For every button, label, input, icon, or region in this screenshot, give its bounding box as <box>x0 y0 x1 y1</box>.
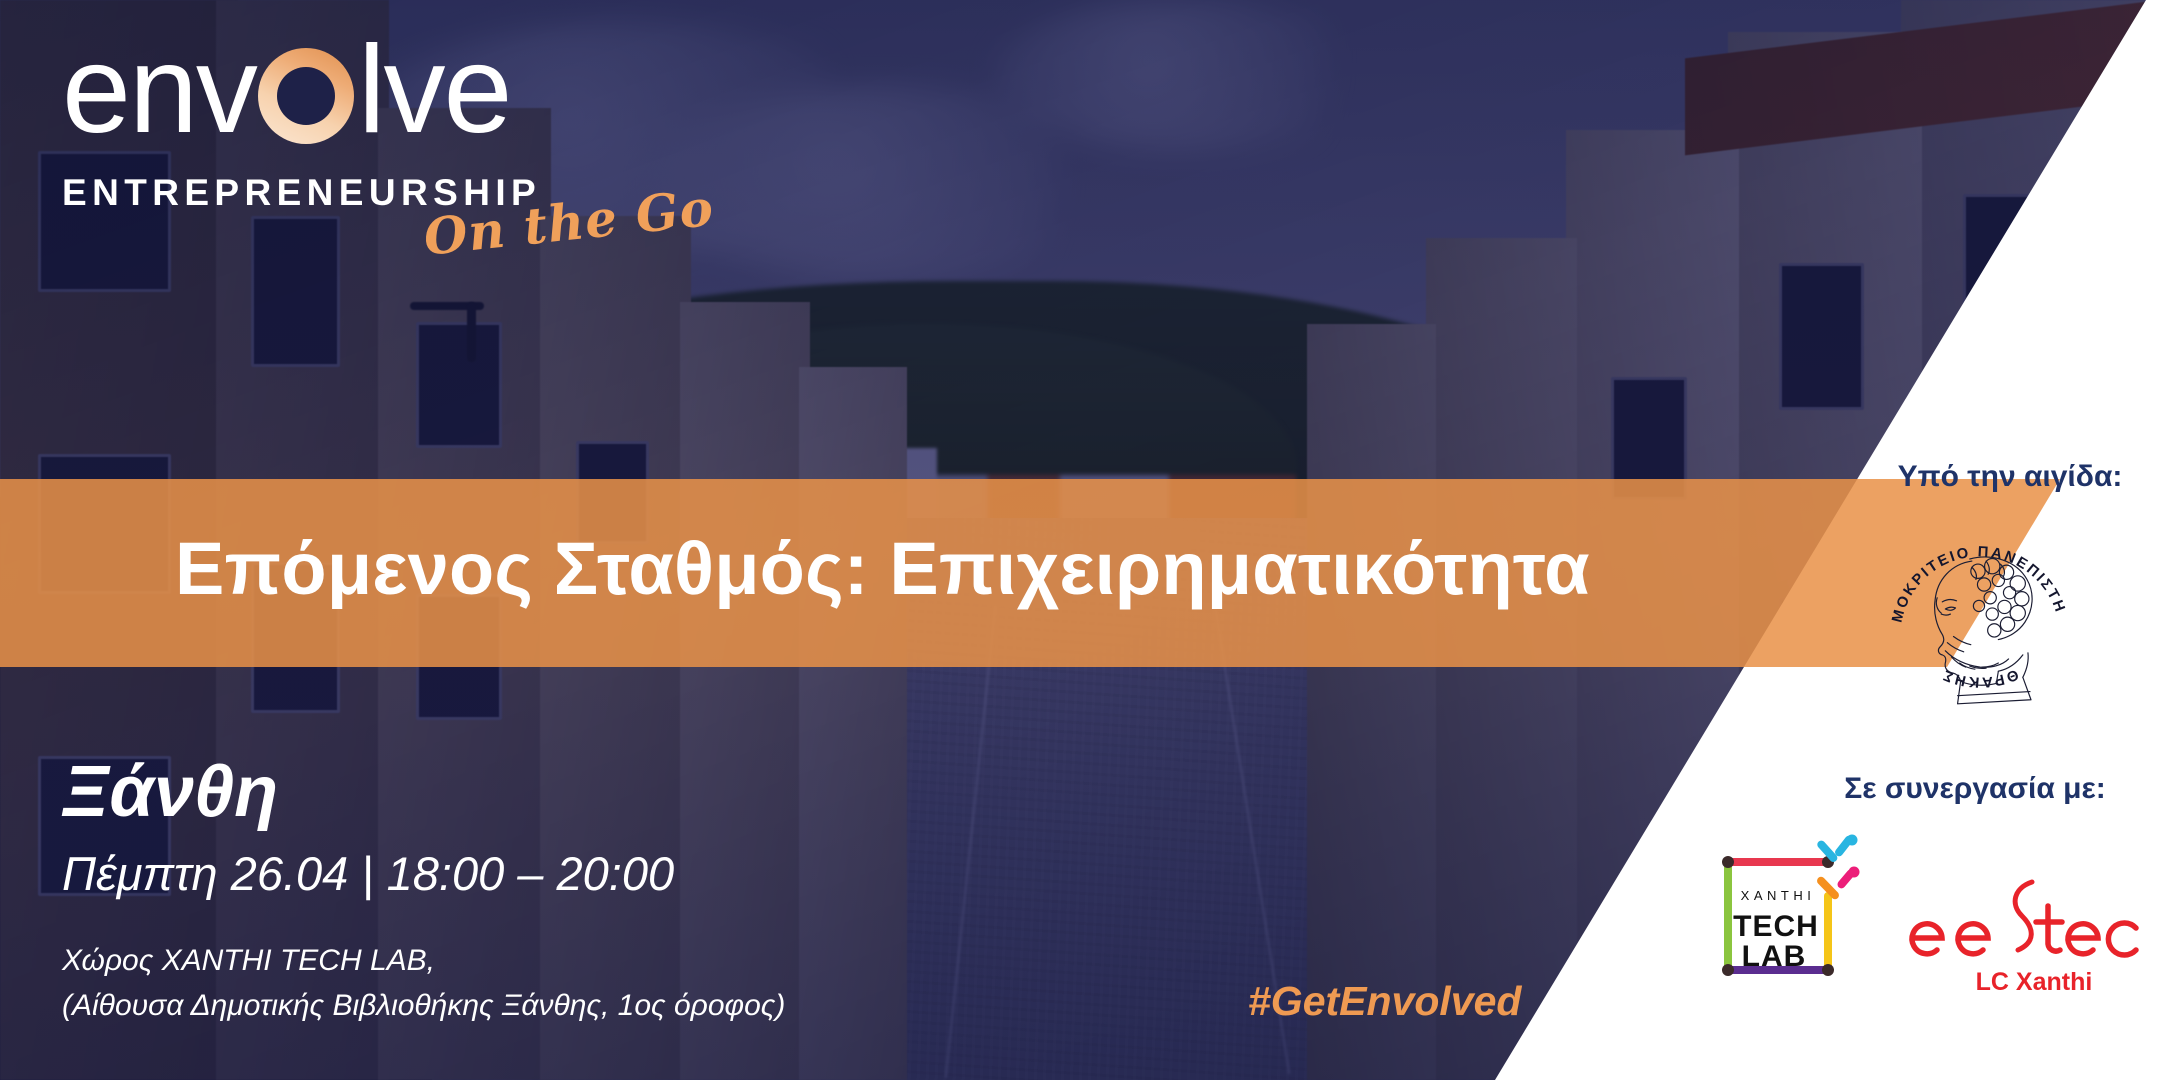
event-datetime: Πέμπτη 26.04 | 18:00 – 20:00 <box>62 850 674 897</box>
event-venue: Χώρος XANTHI TECH LAB, (Αίθουσα Δημοτική… <box>62 938 785 1028</box>
svg-text:ΘΡΑΚΗΣ: ΘΡΑΚΗΣ <box>1939 666 2020 690</box>
logo-text-post: lve <box>358 28 511 152</box>
venue-line-1: Χώρος XANTHI TECH LAB, <box>62 938 785 983</box>
poster-canvas: Επόμενος Σταθμός: Επιχειρηματικότητα env… <box>0 0 2160 1080</box>
eestec-chapter-label: LC Xanthi <box>1976 968 2093 996</box>
logo-text-pre: env <box>62 28 256 152</box>
page-title: Επόμενος Σταθμός: Επιχειρηματικότητα <box>175 526 1935 611</box>
envolve-wordmark: env lve <box>62 28 541 152</box>
svg-text:TECH: TECH <box>1733 910 1819 943</box>
venue-line-2: (Αίθουσα Δημοτικής Βιβλιοθήκης Ξάνθης, 1… <box>62 983 785 1028</box>
envolve-logo: env lve ENTREPRENEURSHIP <box>62 28 541 214</box>
svg-text:LAB: LAB <box>1742 940 1807 973</box>
eestec-lc-xanthi-logo: LC Xanthi <box>1898 866 2142 1002</box>
event-city: Ξάνθη <box>62 756 278 828</box>
svg-text:XANTHI: XANTHI <box>1741 888 1816 903</box>
logo-o-ring-icon <box>258 48 354 144</box>
aegis-label: Υπό την αιγίδα: <box>1880 460 2140 494</box>
xanthi-tech-lab-logo: XANTHI TECH LAB <box>1708 828 1888 1004</box>
partner-label: Σε συνεργασία με: <box>1810 772 2140 806</box>
democritus-university-seal: ΔΗΜΟΚΡΙΤΕΙΟ ΠΑΝΕΠΙΣΤΗΜΙΟ ΘΡΑΚΗΣ <box>1878 508 2082 712</box>
event-hashtag: #GetEnvolved <box>1248 978 1521 1025</box>
